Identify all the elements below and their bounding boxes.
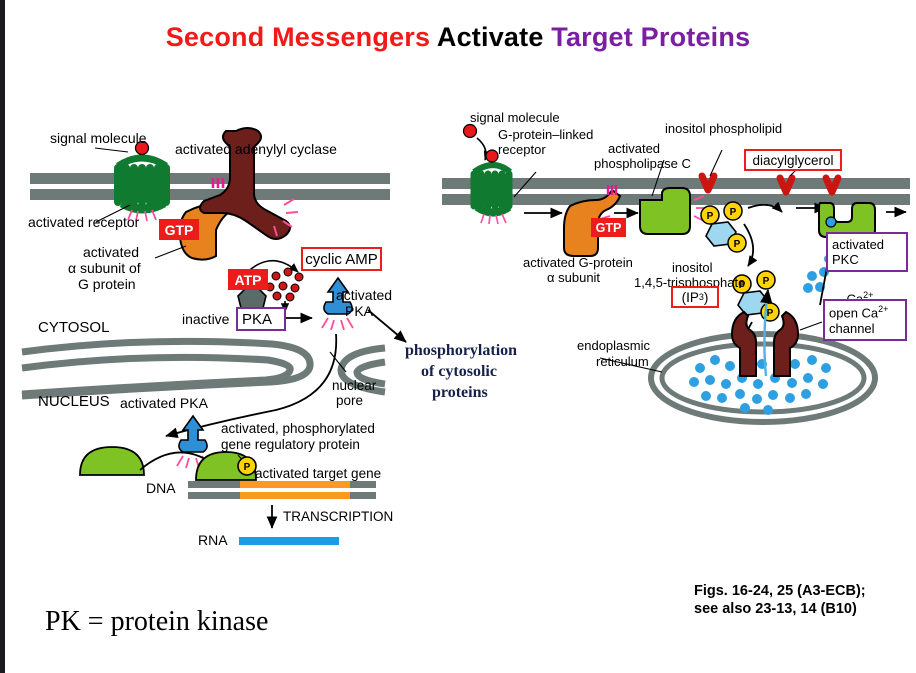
label-inositol-l1: inositol — [672, 261, 712, 276]
slide-canvas: Second Messengers Activate Target Protei… — [0, 0, 916, 673]
right-signal-molecule-dot — [464, 125, 477, 138]
citation-line-2: see also 23-13, 14 (B10) — [694, 600, 857, 618]
svg-text:P: P — [244, 462, 251, 473]
label-activated-target-gene: activated target gene — [255, 466, 381, 481]
badge-gtp-left: GTP — [159, 219, 199, 240]
label-activated-g-protein-l2: α subunit — [547, 271, 600, 286]
label-nuclear-pore-l1: nuclear — [332, 378, 376, 393]
label-signal-molecule-left: signal molecule — [50, 131, 147, 147]
badge-activated-pkc: activated PKC — [826, 232, 908, 272]
pk-definition: PK = protein kinase — [45, 606, 268, 638]
label-endoplasmic-reticulum-l2: reticulum — [596, 355, 649, 370]
svg-text:P: P — [734, 239, 741, 250]
svg-text:P: P — [763, 276, 770, 287]
label-inositol-phospholipid: inositol phospholipid — [665, 122, 782, 137]
label-gp-linked-receptor-l1: G-protein–linked — [498, 128, 593, 143]
label-gene-reg-protein-l2: gene regulatory protein — [221, 437, 360, 452]
activated-pkc-l1: activated — [832, 237, 884, 252]
cyclic-amp-dots — [266, 268, 303, 301]
label-rna: RNA — [198, 533, 228, 549]
open-ca-channel-l2: channel — [829, 321, 875, 336]
label-gene-reg-protein-l1: activated, phosphorylated — [221, 421, 375, 436]
label-dna: DNA — [146, 481, 176, 497]
left-plasma-membrane — [30, 173, 390, 200]
citation-line-1: Figs. 16-24, 25 (A3-ECB); — [694, 582, 866, 600]
arrow-to-phosphorylation-callout — [368, 310, 406, 342]
badge-pka: PKA — [236, 307, 286, 331]
callout-phosphorylation-l2: of cytosolic — [421, 363, 497, 381]
svg-text:P: P — [707, 211, 714, 222]
label-signal-molecule-right: signal molecule — [470, 111, 560, 126]
label-activated-plc-l2: phospholipase C — [594, 157, 691, 172]
badge-gtp-right: GTP — [591, 218, 626, 237]
label-activated-alpha-subunit-l1: activated — [83, 245, 139, 261]
ip3-close: ) — [704, 290, 709, 305]
label-activated-pka-cytosol-l2: PKA — [345, 304, 373, 320]
label-nucleus: NUCLEUS — [38, 394, 110, 411]
label-activated-pka-cytosol-l1: activated — [336, 288, 392, 304]
label-inactive: inactive — [182, 312, 229, 328]
label-activated-adenylyl-cyclase: activated adenylyl cyclase — [175, 142, 337, 158]
label-transcription: TRANSCRIPTION — [283, 509, 393, 524]
badge-cyclic-amp: cyclic AMP — [301, 247, 382, 271]
diagram-graphics: P — [0, 0, 916, 673]
label-cytosol: CYTOSOL — [38, 320, 109, 337]
nuclear-envelope — [22, 341, 310, 396]
gene-regulatory-protein-active: P — [196, 452, 256, 480]
ip3-text: (IP — [682, 290, 699, 305]
badge-ip3: (IP3) — [671, 286, 719, 308]
badge-diacylglycerol: diacylglycerol — [744, 149, 842, 171]
callout-phosphorylation-l1: phosphorylation — [405, 342, 517, 360]
activated-pkc-l2: PKC — [832, 252, 859, 267]
badge-atp: ATP — [228, 269, 268, 290]
label-activated-receptor: activated receptor — [28, 215, 139, 231]
label-activated-g-protein-l1: activated G-protein — [523, 256, 633, 271]
open-ca-text: open Ca — [829, 306, 878, 321]
badge-open-ca-channel: open Ca2+ channel — [823, 299, 907, 341]
label-activated-plc-l1: activated — [608, 142, 660, 157]
label-endoplasmic-reticulum-l1: endoplasmic — [577, 339, 650, 354]
svg-text:P: P — [730, 207, 737, 218]
rna-bar — [239, 537, 339, 545]
gene-regulatory-protein-inactive — [80, 447, 144, 475]
label-activated-alpha-subunit-l3: G protein — [78, 277, 136, 293]
svg-text:P: P — [767, 308, 774, 319]
label-nuclear-pore-l2: pore — [336, 393, 363, 408]
label-activated-alpha-subunit-l2: α subunit of — [68, 261, 141, 277]
dna-strand — [188, 481, 376, 499]
label-gp-linked-receptor-l2: receptor — [498, 143, 546, 158]
open-ca-superscript: 2+ — [878, 304, 888, 314]
callout-phosphorylation-l3: proteins — [432, 384, 488, 402]
label-activated-pka-nucleus: activated PKA — [120, 396, 208, 412]
open-ca-channel-l1: open Ca2+ — [829, 304, 888, 320]
